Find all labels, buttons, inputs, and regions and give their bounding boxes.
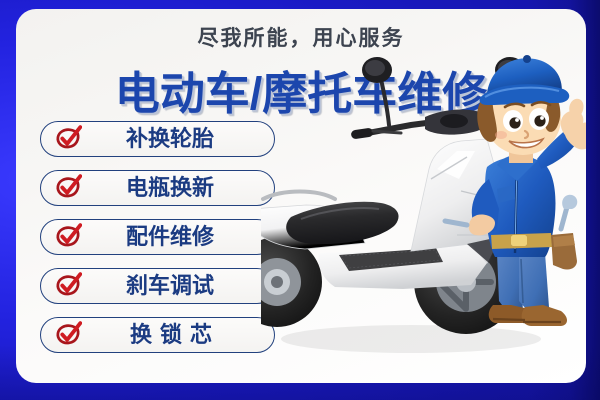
service-item-brake-adjustment[interactable]: 刹车调试 (40, 268, 275, 304)
service-item-parts-repair[interactable]: 配件维修 (40, 219, 275, 255)
service-label: 电瓶换新 (82, 177, 274, 199)
check-circle-icon (54, 223, 82, 251)
service-label: 配件维修 (82, 226, 274, 248)
check-circle-icon (54, 272, 82, 300)
service-item-lock-core-replacement[interactable]: 换锁芯 (40, 317, 275, 353)
service-label: 换锁芯 (82, 324, 274, 346)
poster-canvas: 尽我所能，用心服务 电动车/摩托车维修 补换轮胎 电瓶换新 (0, 0, 600, 400)
check-circle-icon (54, 125, 82, 153)
service-label: 补换轮胎 (82, 128, 274, 150)
service-item-tire-replacement[interactable]: 补换轮胎 (40, 121, 275, 157)
content-card: 尽我所能，用心服务 电动车/摩托车维修 补换轮胎 电瓶换新 (16, 9, 586, 383)
check-circle-icon (54, 174, 82, 202)
scooter-rear-wheel (261, 237, 322, 327)
service-list: 补换轮胎 电瓶换新 配件维修 (40, 121, 275, 366)
service-item-battery-renewal[interactable]: 电瓶换新 (40, 170, 275, 206)
check-circle-icon (54, 321, 82, 349)
scooter-and-mechanic-illustration (261, 39, 586, 383)
service-label: 刹车调试 (82, 275, 274, 297)
